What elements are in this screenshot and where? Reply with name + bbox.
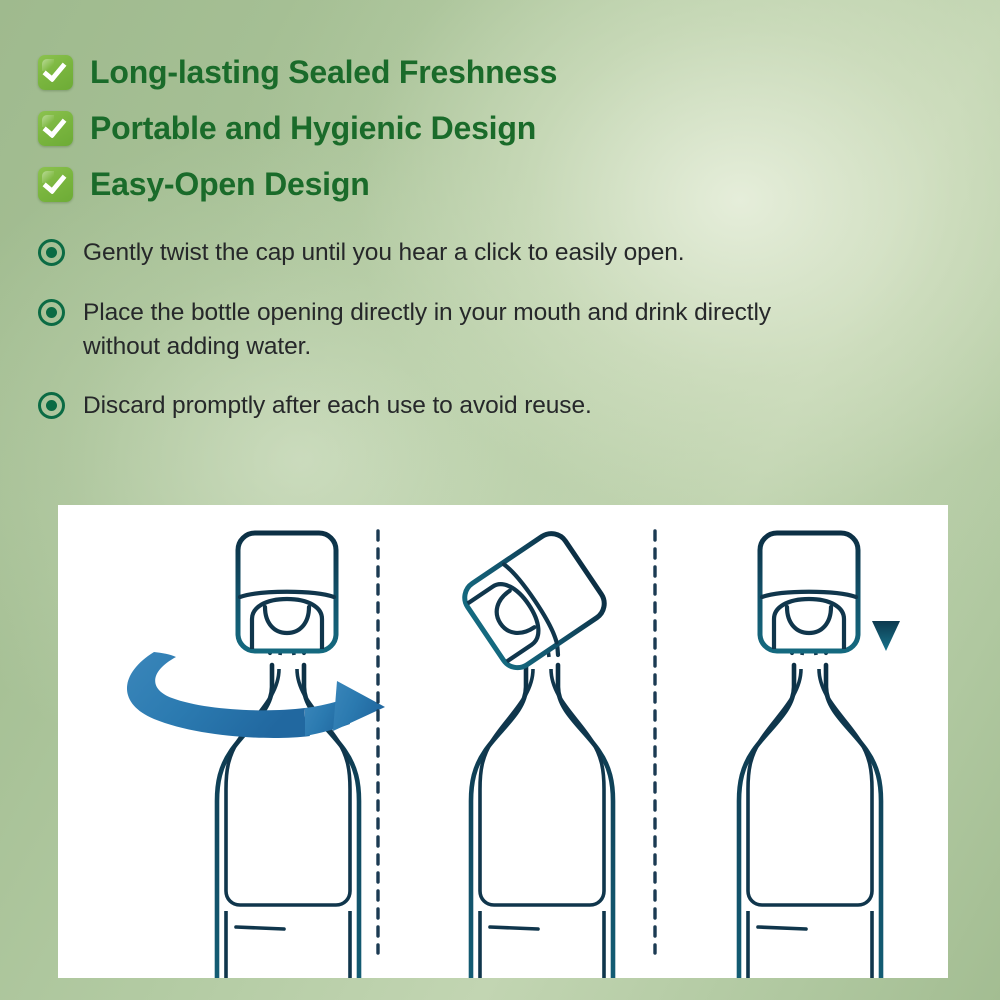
instruction-item: Discard promptly after each use to avoid… xyxy=(38,389,828,423)
instruction-label: Gently twist the cap until you hear a cl… xyxy=(83,236,684,270)
bottle-cap-icon xyxy=(760,533,858,651)
target-dot-bullet-icon xyxy=(38,392,65,419)
bottle-cap-icon xyxy=(238,533,336,651)
remove-cap-step xyxy=(458,527,613,978)
twist-cap-step xyxy=(127,533,385,978)
feature-item: Long-lasting Sealed Freshness xyxy=(38,44,938,100)
green-check-badge-icon xyxy=(38,55,73,90)
instruction-item: Place the bottle opening directly in you… xyxy=(38,296,828,364)
target-dot-bullet-icon xyxy=(38,239,65,266)
replace-cap-step xyxy=(739,533,900,978)
instruction-item: Gently twist the cap until you hear a cl… xyxy=(38,236,828,270)
illustration-panel xyxy=(58,505,948,978)
bottle-outline xyxy=(471,665,613,978)
down-arrow-icon xyxy=(872,567,900,651)
green-check-badge-icon xyxy=(38,111,73,146)
feature-item: Easy-Open Design xyxy=(38,156,938,212)
green-check-badge-icon xyxy=(38,167,73,202)
bottle-cap-icon xyxy=(458,527,611,674)
instruction-list: Gently twist the cap until you hear a cl… xyxy=(38,236,828,449)
feature-list: Long-lasting Sealed Freshness Portable a… xyxy=(38,44,938,212)
instruction-label: Discard promptly after each use to avoid… xyxy=(83,389,592,423)
usage-steps-illustration xyxy=(58,505,948,978)
feature-label: Long-lasting Sealed Freshness xyxy=(90,56,557,88)
instruction-label: Place the bottle opening directly in you… xyxy=(83,296,828,364)
circular-rotate-arrow-icon xyxy=(127,652,385,738)
target-dot-bullet-icon xyxy=(38,299,65,326)
feature-label: Portable and Hygienic Design xyxy=(90,112,536,144)
bottle-outline xyxy=(739,665,881,978)
feature-label: Easy-Open Design xyxy=(90,168,370,200)
feature-item: Portable and Hygienic Design xyxy=(38,100,938,156)
